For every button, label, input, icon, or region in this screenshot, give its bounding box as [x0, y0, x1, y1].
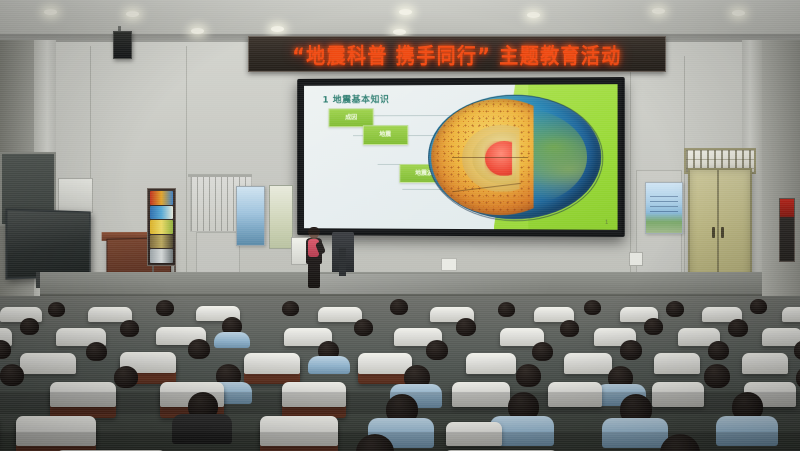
right-side-wall — [760, 40, 800, 302]
poster-text-line — [650, 211, 677, 212]
presenter-legs — [308, 263, 320, 288]
ceiling-downlight — [652, 8, 665, 14]
door-handle[interactable] — [721, 227, 724, 238]
auditorium-seat[interactable] — [742, 353, 788, 374]
audience-head — [390, 299, 408, 315]
presenter — [303, 228, 325, 290]
audience-head — [20, 318, 39, 335]
auditorium-seat[interactable] — [762, 328, 800, 346]
auditorium-seat[interactable] — [564, 353, 612, 374]
rack-poster-card — [150, 249, 173, 263]
audience-area — [0, 296, 800, 451]
slide-box: 地震 — [362, 125, 407, 144]
poster-text-line — [650, 206, 677, 207]
door-handle[interactable] — [712, 227, 715, 238]
auditorium-seat[interactable] — [782, 307, 800, 322]
earth-cutaway-diagram — [428, 94, 602, 219]
earth-outline — [428, 94, 604, 221]
ceiling-downlight — [271, 26, 284, 32]
poster-rack[interactable] — [147, 188, 176, 266]
event-banner: “地震科普 携手同行” 主题教育活动 — [248, 36, 666, 72]
stage-floor-box — [441, 258, 457, 271]
audience-shoulders — [308, 356, 350, 374]
audience-head — [188, 339, 210, 359]
audience-shadow-band — [0, 432, 800, 451]
ceiling-downlight — [126, 11, 139, 17]
slide-page-number: 1 — [605, 219, 608, 225]
wall-outlet-box — [629, 252, 643, 266]
auditorium-seat[interactable] — [654, 353, 700, 374]
audience-head — [708, 341, 729, 360]
notice-sign — [779, 198, 795, 262]
ceiling-downlight — [732, 10, 745, 16]
slide-box-label: 地震 — [379, 132, 391, 138]
wall-seam — [630, 56, 631, 278]
auditorium-seat[interactable] — [318, 307, 362, 322]
slide-title: 1 地震基本知识 — [322, 93, 389, 106]
audience-head — [532, 342, 553, 361]
audience-head — [644, 318, 663, 335]
ceiling-downlight — [527, 12, 540, 18]
audience-head — [516, 364, 541, 387]
wall-poster-left-2 — [269, 185, 293, 249]
audience-head — [704, 364, 730, 388]
audience-head — [0, 364, 24, 386]
auditorium-seat[interactable] — [244, 353, 300, 374]
wall-speaker — [113, 31, 132, 59]
audience-head — [114, 366, 138, 388]
audience-head — [560, 320, 579, 337]
audience-head — [48, 302, 65, 317]
wall-seam — [186, 46, 187, 276]
rack-poster-card — [150, 220, 173, 234]
auditorium-seat[interactable] — [20, 353, 76, 374]
auditorium-scene: “地震科普 携手同行” 主题教育活动 1 地震基本知识 成因 地震 地震波 震级… — [0, 0, 800, 451]
audience-shoulders — [214, 332, 250, 348]
audience-head — [728, 319, 748, 337]
wall-poster-right — [645, 182, 683, 234]
ceiling-downlight — [44, 9, 57, 15]
audience-head — [750, 299, 767, 314]
presentation-slide: 1 地震基本知识 成因 地震 地震波 震级 烈度 1 — [304, 84, 618, 230]
wall-monitor[interactable] — [5, 208, 90, 279]
auditorium-seat[interactable] — [466, 353, 516, 374]
audience-head — [666, 301, 684, 317]
audience-head — [156, 300, 174, 316]
rack-poster-card — [150, 235, 173, 249]
audience-head — [354, 319, 373, 336]
audience-head — [282, 301, 299, 316]
poster-text-line — [650, 196, 677, 197]
audience-head — [456, 318, 476, 336]
event-banner-text: “地震科普 携手同行” 主题教育活动 — [292, 39, 621, 69]
audience-head — [796, 366, 800, 389]
audience-head — [498, 302, 515, 317]
equipment-stand-pole — [339, 248, 346, 276]
poster-text-line — [650, 201, 677, 202]
slide-box-label: 成因 — [345, 115, 357, 121]
audience-shadow-band — [0, 392, 800, 414]
audience-head — [426, 340, 448, 360]
ceiling-downlight — [393, 29, 406, 35]
audience-head — [584, 300, 601, 315]
wall-cabinet — [58, 178, 93, 213]
wall-poster-left — [236, 186, 265, 246]
projection-screen[interactable]: 1 地震基本知识 成因 地震 地震波 震级 烈度 1 — [297, 77, 625, 237]
rack-poster-card — [150, 206, 173, 220]
auditorium-seat[interactable] — [358, 353, 412, 374]
audience-head — [86, 342, 107, 361]
rack-poster-card — [150, 191, 173, 205]
ceiling-downlight — [191, 28, 204, 34]
audience-head — [620, 340, 642, 360]
presenter-hair — [308, 227, 320, 235]
audience-head — [120, 320, 139, 337]
ceiling-downlight — [399, 9, 412, 15]
